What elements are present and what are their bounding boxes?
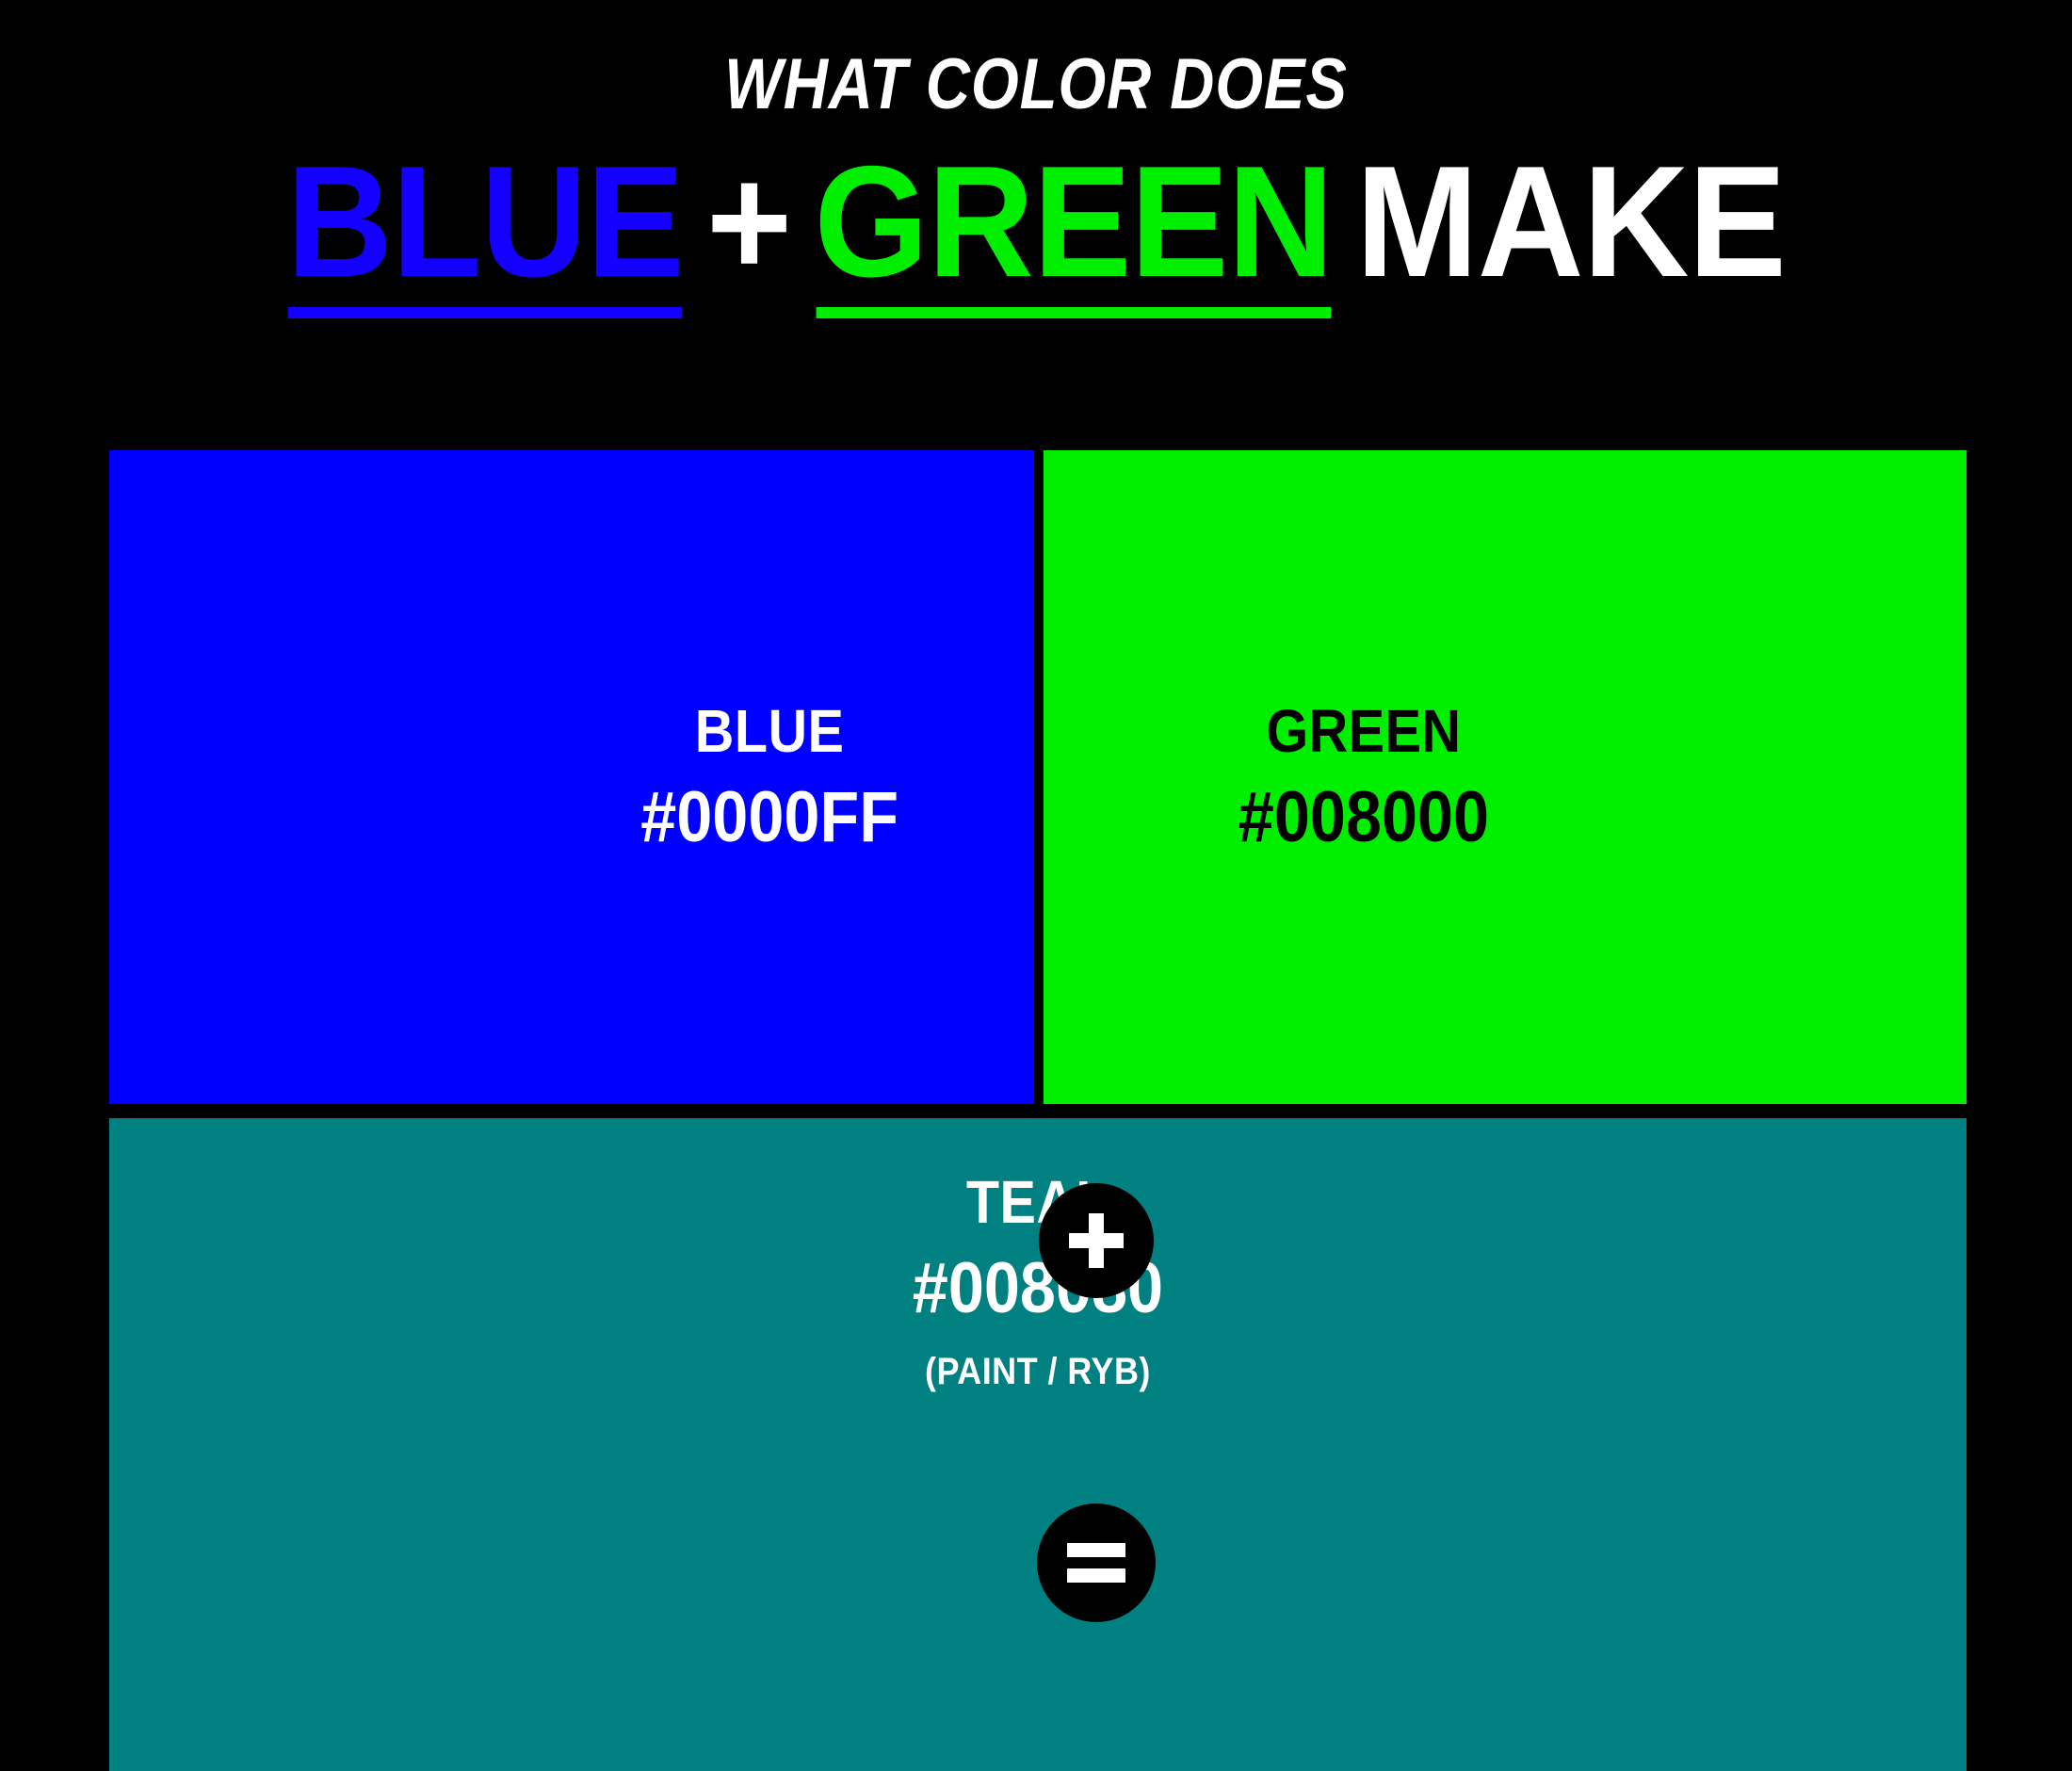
title-word-first-color: BLUE [286, 138, 684, 318]
operator-plus-badge [1039, 1183, 1154, 1298]
poster-title: BLUE+GREENMAKE [73, 138, 1999, 318]
operator-equals-badge [1037, 1503, 1156, 1622]
swatch-hex-blue: #0000FF [640, 782, 898, 853]
title-word-second-color: GREEN [814, 138, 1333, 318]
swatch-panel-blue: BLUE #0000FF [109, 450, 1034, 1104]
swatch-note-teal: (PAINT / RYB) [913, 1353, 1163, 1390]
swatch-grid: BLUE #0000FF GREEN #008000 TEAL #008080 … [109, 450, 1967, 1771]
color-mix-poster: WHAT COLOR DOES BLUE+GREENMAKE BLUE #000… [0, 0, 2072, 1771]
poster-header: WHAT COLOR DOES BLUE+GREENMAKE [0, 0, 2072, 318]
swatch-panel-teal: TEAL #008080 (PAINT / RYB) [109, 1118, 1967, 1771]
swatch-hex-green: #008000 [1238, 782, 1489, 853]
swatch-panel-green: GREEN #008000 [1044, 450, 1967, 1104]
swatch-name-blue: BLUE [640, 701, 898, 761]
swatch-label-green: GREEN #008000 [1224, 701, 1503, 853]
poster-subtitle: WHAT COLOR DOES [145, 49, 1927, 121]
title-operator-plus: + [706, 138, 791, 318]
title-word-verb: MAKE [1356, 138, 1786, 318]
swatch-label-blue: BLUE #0000FF [626, 701, 913, 853]
equals-icon [1067, 1543, 1125, 1583]
plus-icon [1069, 1213, 1124, 1268]
swatch-name-green: GREEN [1238, 701, 1489, 761]
